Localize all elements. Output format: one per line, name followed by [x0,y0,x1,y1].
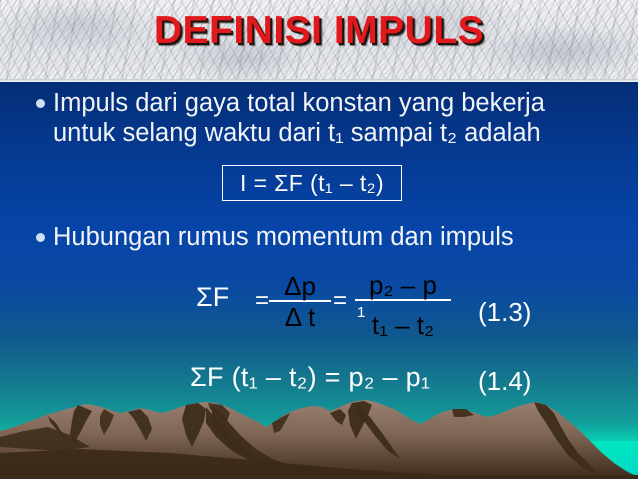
equation-1-3-equals-2: = [333,287,347,315]
bullet-item-1: Impuls dari gaya total konstan yang beke… [36,88,626,148]
bullet-item-2: Hubungan rumus momentum dan impuls [36,222,596,252]
mountain-range-graphic [0,391,638,479]
header-divider [0,79,638,82]
bullet-dot-icon [36,99,45,108]
impulse-formula-text: I = ΣF (t₁ – t₂) [240,170,384,197]
fraction-2-stray-subscript: 1 [357,304,365,321]
equation-1-3-equals-1: = [255,287,269,315]
bullet-dot-icon [36,233,45,242]
bullet-item-1-text: Impuls dari gaya total konstan yang beke… [53,88,545,148]
fraction-1-denominator: Δ t [269,303,331,331]
fraction-1-numerator: Δp [269,273,331,299]
impulse-formula-box: I = ΣF (t₁ – t₂) [222,165,402,201]
equation-1-3-tag: (1.3) [478,297,531,328]
equation-1-3-lhs: ΣF [196,282,229,313]
equation-1-3-fraction-1: Δp Δ t [269,273,331,331]
fraction-2-numerator: p₂ – p [355,272,451,298]
equation-1-4-text: ΣF (t₁ – t₂) = p₂ – p₁ [190,362,430,393]
fraction-2-denominator: t₁ – t₂ [355,311,451,339]
slide: DEFINISI IMPULS Impuls dari gaya total k… [0,0,638,479]
ground-strip [0,475,638,479]
equation-1-3-fraction-2: p₂ – p t₁ – t₂ [355,272,451,339]
bullet-item-2-text: Hubungan rumus momentum dan impuls [53,222,514,252]
page-title: DEFINISI IMPULS [0,9,638,53]
